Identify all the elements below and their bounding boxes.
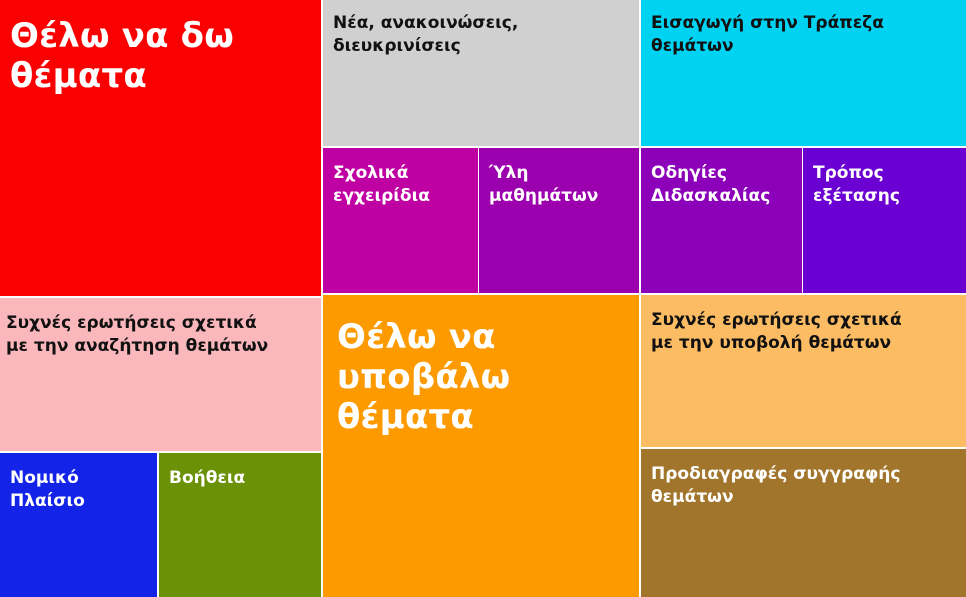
tile-faq-search[interactable]: Συχνές ερωτήσεις σχετικά με την αναζήτησ… [0, 298, 321, 451]
tile-intro-bank-label: Εισαγωγή στην Τράπεζα θεμάτων [641, 0, 966, 58]
tile-exam-method[interactable]: Τρόπος εξέτασης [803, 148, 966, 293]
tile-grid: Θέλω να δω θέματα Νέα, ανακοινώσεις, διε… [0, 0, 966, 597]
tile-legal[interactable]: Νομικό Πλαίσιο [0, 453, 157, 597]
tile-faq-submit-label: Συχνές ερωτήσεις σχετικά με την υποβολή … [641, 295, 966, 355]
tile-teaching-guides-label: Οδηγίες Διδασκαλίας [641, 148, 802, 208]
tile-submit-topics-label: Θέλω να υποβάλω θέματα [323, 295, 639, 437]
tile-faq-submit[interactable]: Συχνές ερωτήσεις σχετικά με την υποβολή … [641, 295, 966, 447]
tile-teaching-guides[interactable]: Οδηγίες Διδασκαλίας [641, 148, 802, 293]
tile-schoolbooks[interactable]: Σχολικά εγχειρίδια [323, 148, 478, 293]
tile-syllabus-label: Ύλη μαθημάτων [479, 148, 639, 208]
tile-spec-writing[interactable]: Προδιαγραφές συγγραφής θεμάτων [641, 449, 966, 597]
tile-news-label: Νέα, ανακοινώσεις, διευκρινίσεις [323, 0, 639, 58]
tile-news[interactable]: Νέα, ανακοινώσεις, διευκρινίσεις [323, 0, 639, 146]
tile-syllabus[interactable]: Ύλη μαθημάτων [479, 148, 639, 293]
tile-help[interactable]: Βοήθεια [159, 453, 321, 597]
tile-spec-writing-label: Προδιαγραφές συγγραφής θεμάτων [641, 449, 966, 509]
tile-legal-label: Νομικό Πλαίσιο [0, 453, 157, 513]
tile-intro-bank[interactable]: Εισαγωγή στην Τράπεζα θεμάτων [641, 0, 966, 146]
tile-view-topics-label: Θέλω να δω θέματα [0, 0, 321, 96]
tile-view-topics[interactable]: Θέλω να δω θέματα [0, 0, 321, 296]
tile-exam-method-label: Τρόπος εξέτασης [803, 148, 966, 208]
tile-faq-search-label: Συχνές ερωτήσεις σχετικά με την αναζήτησ… [0, 298, 321, 358]
tile-schoolbooks-label: Σχολικά εγχειρίδια [323, 148, 478, 208]
tile-help-label: Βοήθεια [159, 453, 321, 490]
tile-submit-topics[interactable]: Θέλω να υποβάλω θέματα [323, 295, 639, 597]
